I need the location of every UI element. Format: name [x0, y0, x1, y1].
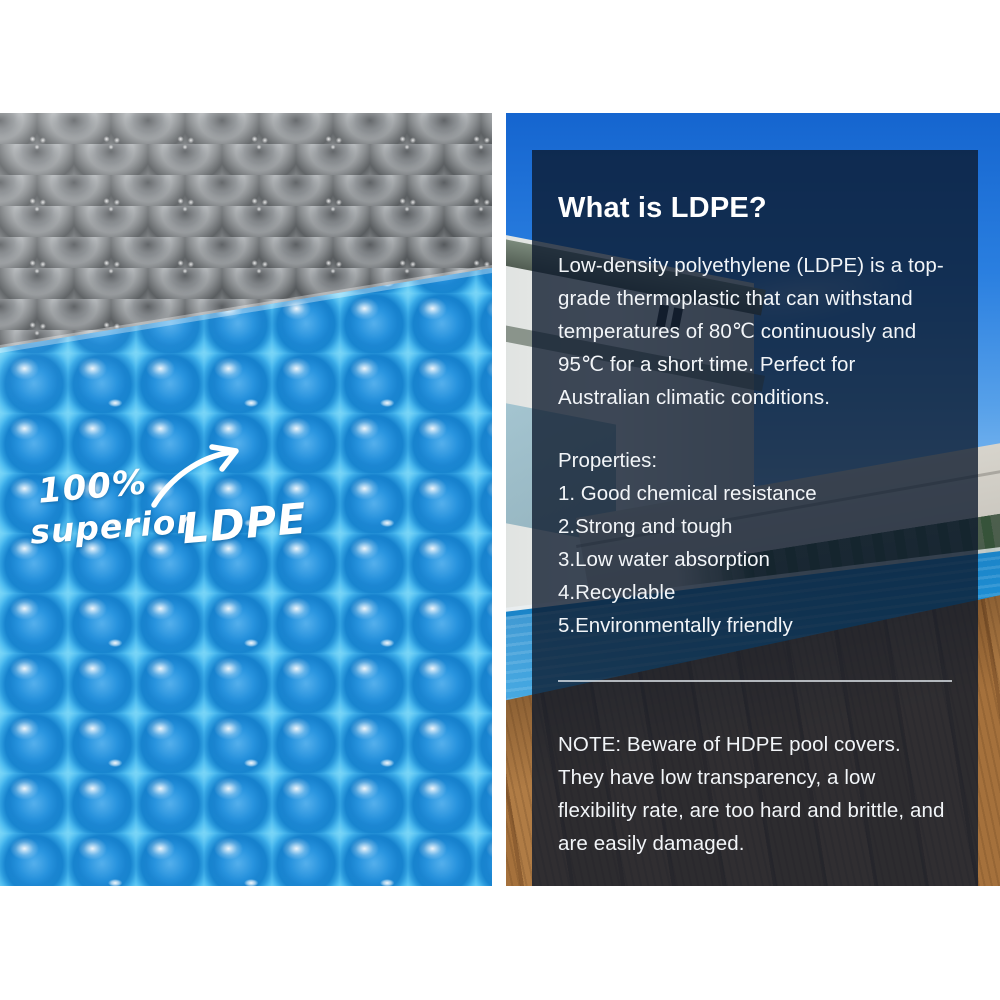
- card-heading: What is LDPE?: [558, 192, 952, 225]
- list-item: 5.Environmentally friendly: [558, 609, 952, 642]
- bubble-cover-photo: 100% superior LDPE: [0, 113, 492, 886]
- product-infographic: 100% superior LDPE What is LDPE? Low-: [0, 0, 1000, 1000]
- list-item: 1. Good chemical resistance: [558, 477, 952, 510]
- properties-title: Properties:: [558, 444, 952, 477]
- list-item: 3.Low water absorption: [558, 543, 952, 576]
- list-item: 4.Recyclable: [558, 576, 952, 609]
- card-divider: [558, 680, 952, 682]
- list-item: 2.Strong and tough: [558, 510, 952, 543]
- properties-list: 1. Good chemical resistance 2.Strong and…: [558, 477, 952, 642]
- info-card: What is LDPE? Low-density polyethylene (…: [532, 150, 978, 886]
- note-text: NOTE: Beware of HDPE pool covers. They h…: [558, 728, 952, 860]
- intro-paragraph: Low-density polyethylene (LDPE) is a top…: [558, 249, 952, 414]
- pool-scene-photo: What is LDPE? Low-density polyethylene (…: [506, 113, 1000, 886]
